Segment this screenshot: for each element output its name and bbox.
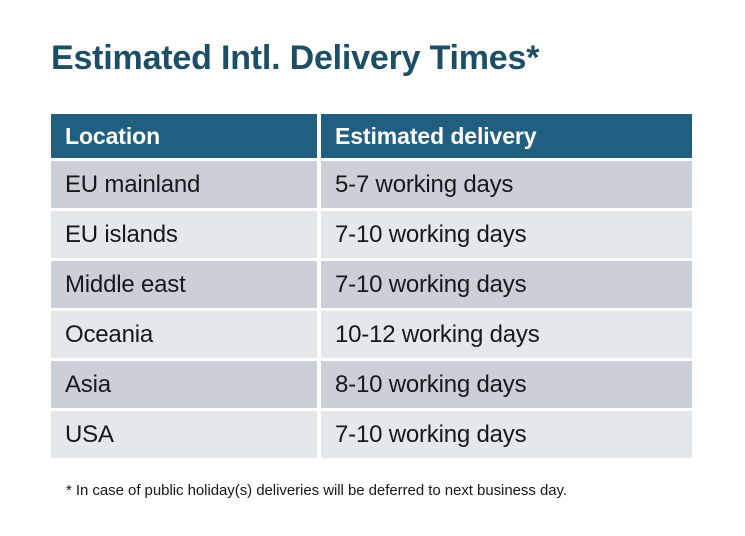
table-row: USA 7-10 working days	[51, 411, 692, 458]
column-header-location: Location	[51, 114, 317, 158]
footnote: * In case of public holiday(s) deliverie…	[66, 481, 567, 501]
estimated-delivery-times-table: Location Estimated delivery EU mainland …	[47, 111, 696, 461]
cell-delivery: 5-7 working days	[321, 161, 692, 208]
delivery-times-page: Estimated Intl. Delivery Times* Location…	[0, 0, 745, 536]
table-row: Asia 8-10 working days	[51, 361, 692, 408]
table-header: Location Estimated delivery	[51, 114, 692, 158]
cell-delivery: 7-10 working days	[321, 261, 692, 308]
cell-location: Middle east	[51, 261, 317, 308]
column-header-estimated-delivery: Estimated delivery	[321, 114, 692, 158]
cell-location: Asia	[51, 361, 317, 408]
cell-delivery: 7-10 working days	[321, 211, 692, 258]
table-header-row: Location Estimated delivery	[51, 114, 692, 158]
table-row: EU mainland 5-7 working days	[51, 161, 692, 208]
table-body: EU mainland 5-7 working days EU islands …	[51, 161, 692, 458]
cell-location: EU islands	[51, 211, 317, 258]
cell-delivery: 8-10 working days	[321, 361, 692, 408]
table-row: EU islands 7-10 working days	[51, 211, 692, 258]
cell-delivery: 10-12 working days	[321, 311, 692, 358]
cell-location: EU mainland	[51, 161, 317, 208]
table-row: Middle east 7-10 working days	[51, 261, 692, 308]
cell-delivery: 7-10 working days	[321, 411, 692, 458]
cell-location: Oceania	[51, 311, 317, 358]
page-title: Estimated Intl. Delivery Times*	[51, 38, 539, 78]
cell-location: USA	[51, 411, 317, 458]
table-row: Oceania 10-12 working days	[51, 311, 692, 358]
